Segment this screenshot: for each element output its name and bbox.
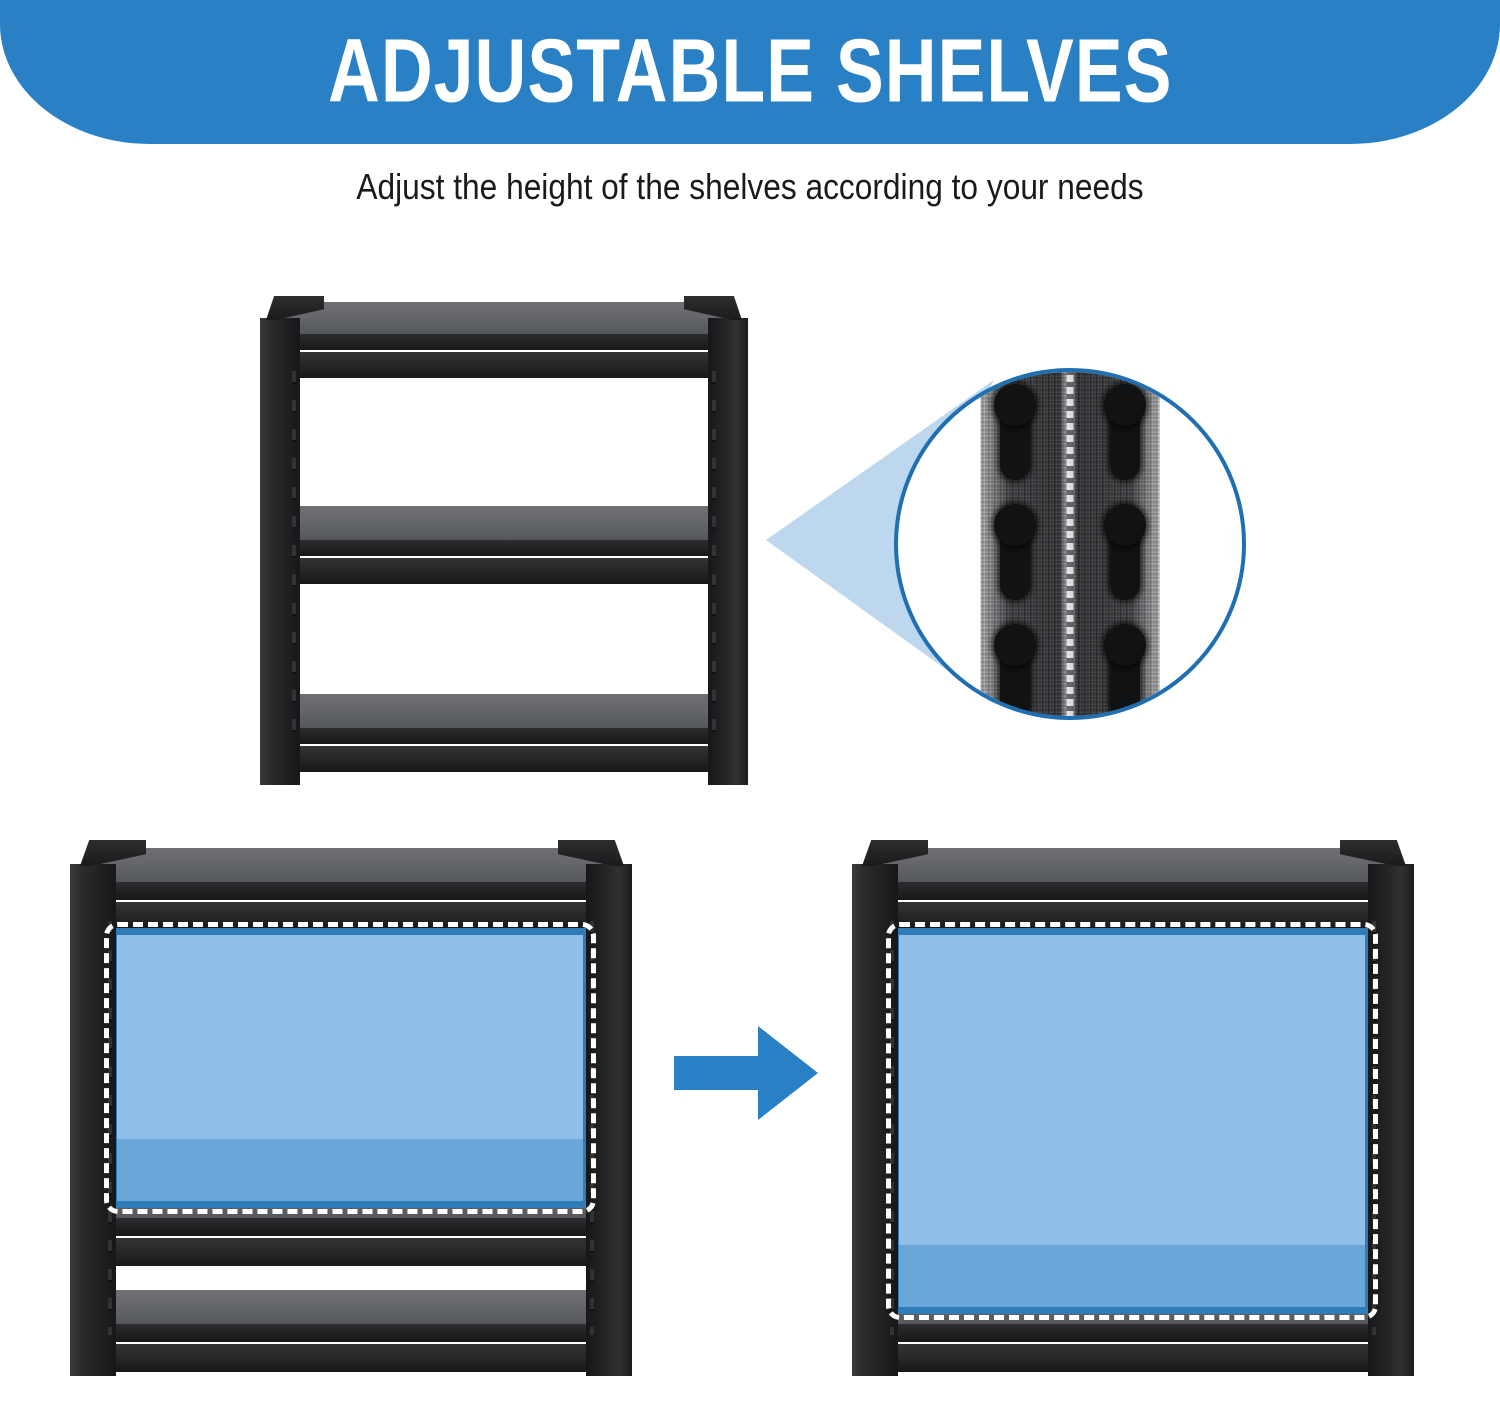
- shelf-surface: [98, 848, 604, 882]
- upright-post-left: [852, 864, 898, 1376]
- page-title: ADJUSTABLE SHELVES: [328, 26, 1172, 116]
- shelf-support-rail: [112, 1344, 590, 1372]
- shelf-board-top: [98, 848, 604, 932]
- shelf-front-edge: [284, 540, 724, 556]
- shelf-front-edge: [98, 1218, 604, 1236]
- post-slot-marks-left: [890, 905, 894, 1335]
- shelf-board-top: [880, 848, 1386, 932]
- shelf-support-rail: [894, 902, 1372, 930]
- shelf-front-edge: [98, 1324, 604, 1342]
- usable-space-highlight: [110, 928, 590, 1208]
- shelf-support-rail: [894, 1344, 1372, 1372]
- shelf-support-rail: [296, 746, 712, 772]
- shelf-front-edge: [880, 1324, 1386, 1342]
- post-slot-marks-right: [1372, 905, 1376, 1335]
- upright-post-right: [586, 864, 632, 1376]
- post-slot-marks-right: [590, 905, 594, 1335]
- after-shelf-unit: [850, 840, 1430, 1380]
- post-slot-marks-left: [292, 355, 296, 747]
- keyhole-slot: [1110, 398, 1140, 480]
- usable-space-floor: [899, 1245, 1365, 1307]
- shelf-board-bottom: [98, 1290, 604, 1374]
- shelf-support-rail: [112, 1238, 590, 1266]
- magnified-post-seam: [1067, 368, 1074, 720]
- header-banner: ADJUSTABLE SHELVES: [0, 0, 1500, 144]
- shelf-surface: [284, 694, 724, 728]
- keyhole-slot: [1000, 518, 1030, 600]
- keyhole-slot: [1000, 398, 1030, 480]
- shelf-support-rail: [296, 352, 712, 378]
- shelf-front-edge: [284, 334, 724, 350]
- subtitle-text: Adjust the height of the shelves accordi…: [90, 166, 1410, 208]
- usable-space-floor: [117, 1139, 583, 1201]
- shelf-front-edge: [880, 882, 1386, 900]
- shelf-board-middle: [284, 506, 724, 584]
- post-slot-callout: [764, 360, 1254, 730]
- keyhole-slot: [1110, 518, 1140, 600]
- magnifier-circle: [894, 368, 1246, 720]
- shelf-board-bottom: [284, 694, 724, 772]
- shelf-front-edge: [98, 882, 604, 900]
- upright-post-right: [1368, 864, 1414, 1376]
- before-shelf-unit: [68, 840, 648, 1380]
- upright-post-left: [260, 318, 300, 785]
- hero-shelf-unit: [258, 296, 768, 796]
- shelf-surface: [284, 506, 724, 540]
- keyhole-slot: [1000, 638, 1030, 720]
- post-slot-marks-left: [108, 905, 112, 1335]
- usable-space-highlight: [892, 928, 1372, 1314]
- post-slot-marks-right: [712, 355, 716, 747]
- upright-post-left: [70, 864, 116, 1376]
- shelf-board-top: [284, 302, 724, 380]
- keyhole-slot: [1110, 638, 1140, 720]
- shelf-front-edge: [284, 728, 724, 744]
- transition-arrow-icon: [672, 1022, 820, 1124]
- shelf-surface: [880, 848, 1386, 882]
- upright-post-right: [708, 318, 748, 785]
- shelf-support-rail: [296, 558, 712, 584]
- shelf-surface: [98, 1290, 604, 1324]
- infographic-canvas: ADJUSTABLE SHELVES Adjust the height of …: [0, 0, 1500, 1403]
- shelf-surface: [284, 302, 724, 334]
- shelf-support-rail: [112, 902, 590, 930]
